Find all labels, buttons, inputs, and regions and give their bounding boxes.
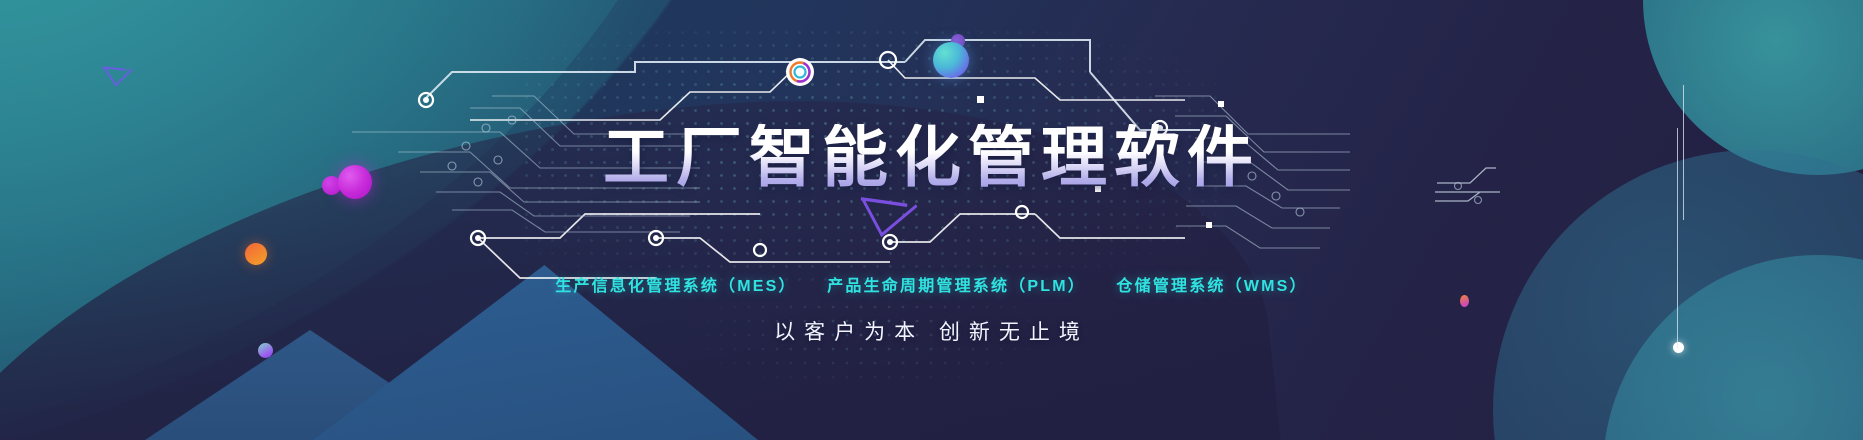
orange-dot (245, 243, 267, 265)
tagline-text: 以客户为本 创新无止境 (774, 316, 1089, 346)
page-title: 工厂智能化管理软件 (603, 124, 1260, 190)
subtitle-container: 生产信息化管理系统（MES） 产品生命周期管理系统（PLM） 仓储管理系统（WM… (0, 272, 1863, 296)
circuit-board-graphic (0, 0, 1863, 440)
title-container: 工厂智能化管理软件 (0, 124, 1863, 190)
gradient-sphere-icon (933, 42, 969, 78)
subtitle-item-wms: 仓储管理系统（WMS） (1116, 272, 1307, 296)
factory-software-banner: 工厂智能化管理软件 生产信息化管理系统（MES） 产品生命周期管理系统（PLM）… (0, 0, 1863, 440)
color-ring-icon (784, 56, 816, 88)
right-mini-dot (1460, 295, 1469, 307)
subtitle-item-mes: 生产信息化管理系统（MES） (555, 272, 796, 296)
subtitle-item-plm: 产品生命周期管理系统（PLM） (827, 272, 1086, 296)
tagline-container: 以客户为本 创新无止境 (0, 316, 1863, 346)
